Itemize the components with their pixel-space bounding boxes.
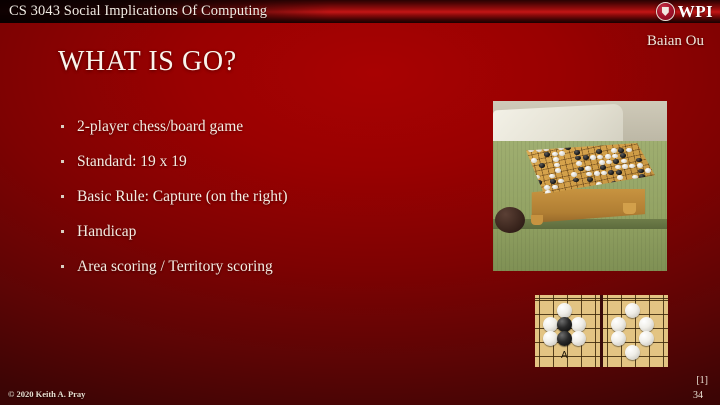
bullet-dot-icon [61, 160, 64, 163]
list-item: 2-player chess/board game [58, 118, 458, 136]
wpi-logo: WPI [656, 1, 713, 22]
white-stone [571, 317, 586, 332]
list-item: Area scoring / Territory scoring [58, 258, 458, 276]
white-stone [639, 331, 654, 346]
white-stone [625, 303, 640, 318]
shield-icon [662, 7, 669, 16]
white-stone [611, 331, 626, 346]
list-item-label: Handicap [77, 223, 136, 240]
list-item: Basic Rule: Capture (on the right) [58, 188, 458, 206]
photo-goban [505, 143, 655, 221]
white-stone [611, 317, 626, 332]
black-stone [557, 317, 572, 332]
bullet-dot-icon [61, 195, 64, 198]
white-stone [639, 317, 654, 332]
list-item-label: Basic Rule: Capture (on the right) [77, 188, 288, 205]
copyright-notice: © 2020 Keith A. Pray [8, 389, 85, 399]
goban-leg [623, 203, 636, 214]
white-stone [625, 345, 640, 360]
slide-header-bar: CS 3043 Social Implications Of Computing… [0, 0, 720, 23]
wpi-seal-icon [656, 2, 675, 21]
bullet-dot-icon [61, 265, 64, 268]
capture-diagram-after [603, 295, 668, 367]
white-stone [543, 331, 558, 346]
slide: CS 3043 Social Implications Of Computing… [0, 0, 720, 405]
white-stone [571, 331, 586, 346]
list-item: Standard: 19 x 19 [58, 153, 458, 171]
page-title: WHAT IS GO? [58, 46, 237, 78]
goban-leg [531, 215, 543, 225]
list-item-label: Area scoring / Territory scoring [77, 258, 273, 275]
bullet-dot-icon [61, 230, 64, 233]
capture-diagram: A [535, 295, 668, 367]
diagram-point-label: A [561, 350, 568, 361]
citation-marker: [1] [696, 375, 708, 386]
capture-diagram-before: A [535, 295, 600, 367]
list-item-label: 2-player chess/board game [77, 118, 243, 135]
white-stone [543, 317, 558, 332]
bullet-dot-icon [61, 125, 64, 128]
list-item: Handicap [58, 223, 458, 241]
black-stone [557, 331, 572, 346]
slide-number: 34 [693, 390, 703, 401]
list-item-label: Standard: 19 x 19 [77, 153, 187, 170]
wpi-logo-text: WPI [678, 1, 713, 22]
course-title: CS 3043 Social Implications Of Computing [9, 0, 267, 23]
author-name: Baian Ou [647, 33, 704, 50]
go-board-photo [493, 101, 667, 271]
white-stone [557, 303, 572, 318]
bullet-list: 2-player chess/board game Standard: 19 x… [58, 118, 458, 293]
